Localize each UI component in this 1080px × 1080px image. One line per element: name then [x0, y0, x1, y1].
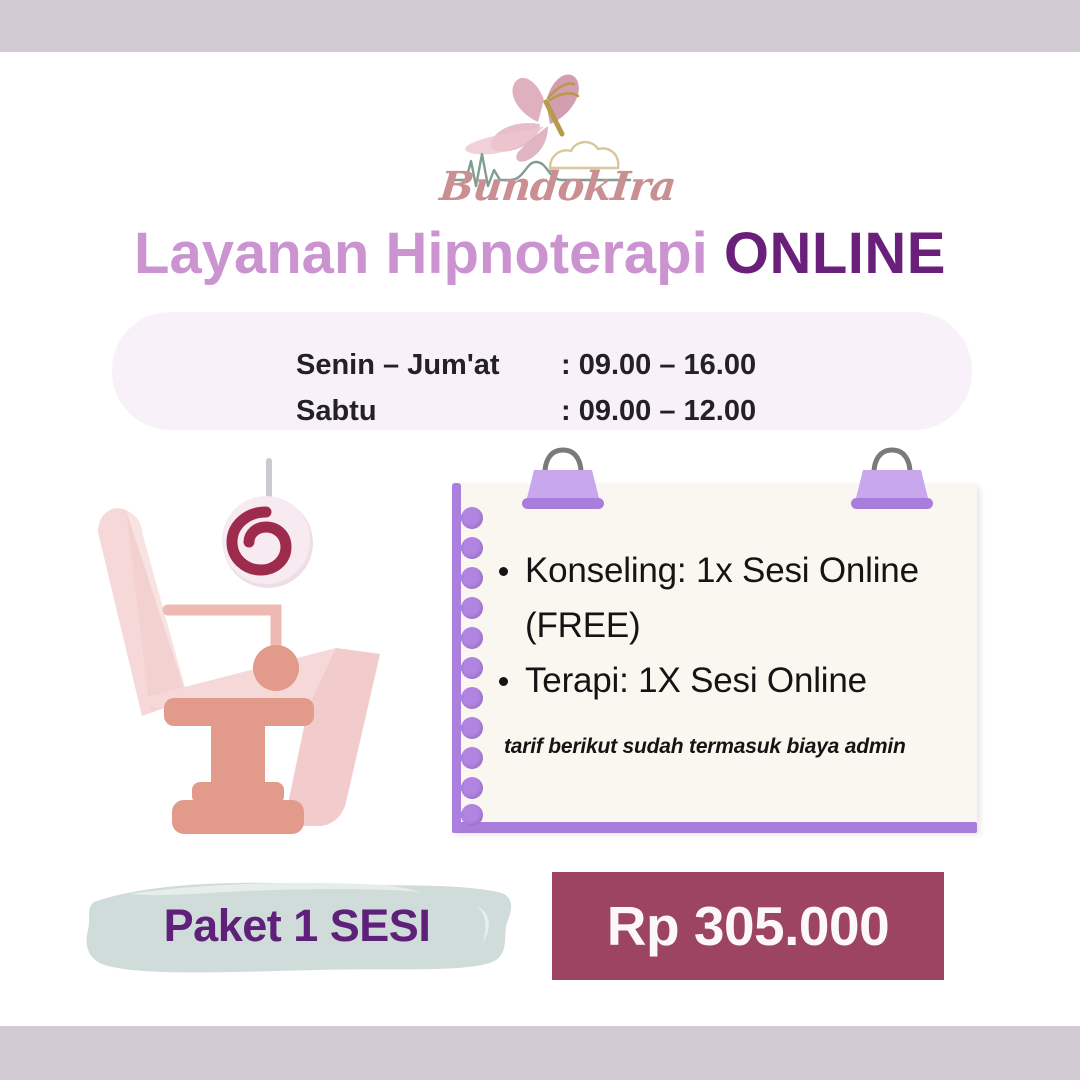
notepad: Konseling: 1x Sesi Online (FREE) Terapi:…	[440, 435, 980, 840]
notepad-ring	[461, 687, 483, 709]
notepad-bottom-bar	[452, 822, 977, 833]
notepad-spine	[452, 483, 461, 833]
notepad-ring	[461, 567, 483, 589]
package-badge: Paket 1 SESI	[78, 872, 516, 980]
schedule-day-label: Senin – Jum'at	[296, 342, 561, 388]
brand-wordmark: BundokIra	[438, 163, 653, 210]
notepad-ring	[461, 597, 483, 619]
binder-clip-right	[845, 440, 939, 518]
notepad-ring	[461, 537, 483, 559]
notepad-ring	[461, 507, 483, 529]
title-soft-part: Layanan Hipnoterapi	[134, 221, 724, 286]
notepad-ring	[461, 777, 483, 799]
notepad-ring	[461, 804, 483, 826]
schedule-time-value: : 09.00 – 16.00	[561, 342, 851, 388]
title-hard-part: ONLINE	[724, 221, 946, 286]
pendulum-icon	[222, 458, 313, 588]
schedule-block: Senin – Jum'at : 09.00 – 16.00 Sabtu : 0…	[296, 342, 856, 434]
page-title: Layanan Hipnoterapi ONLINE	[0, 224, 1080, 285]
notepad-ring	[461, 717, 483, 739]
list-item: Konseling: 1x Sesi Online (FREE)	[525, 543, 950, 653]
binder-clip-left	[516, 440, 610, 518]
notepad-ring	[461, 627, 483, 649]
list-item: Terapi: 1X Sesi Online	[525, 653, 950, 708]
price-box: Rp 305.000	[552, 872, 944, 980]
top-border-band	[0, 0, 1080, 52]
schedule-row: Senin – Jum'at : 09.00 – 16.00	[296, 342, 856, 388]
notepad-footnote: tarif berikut sudah termasuk biaya admin	[504, 735, 954, 759]
bottom-border-band	[0, 1026, 1080, 1080]
butterfly-icon	[465, 75, 579, 162]
schedule-row: Sabtu : 09.00 – 12.00	[296, 388, 856, 434]
therapy-chair-illustration	[80, 440, 440, 840]
poster-canvas: BundokIra Layanan Hipnoterapi ONLINE Sen…	[0, 0, 1080, 1080]
price-value: Rp 305.000	[607, 894, 889, 958]
schedule-time-value: : 09.00 – 12.00	[561, 388, 851, 434]
schedule-day-label: Sabtu	[296, 388, 561, 434]
notepad-ring	[461, 747, 483, 769]
notepad-content: Konseling: 1x Sesi Online (FREE) Terapi:…	[495, 543, 950, 708]
notepad-ring	[461, 657, 483, 679]
service-list: Konseling: 1x Sesi Online (FREE) Terapi:…	[495, 543, 950, 708]
